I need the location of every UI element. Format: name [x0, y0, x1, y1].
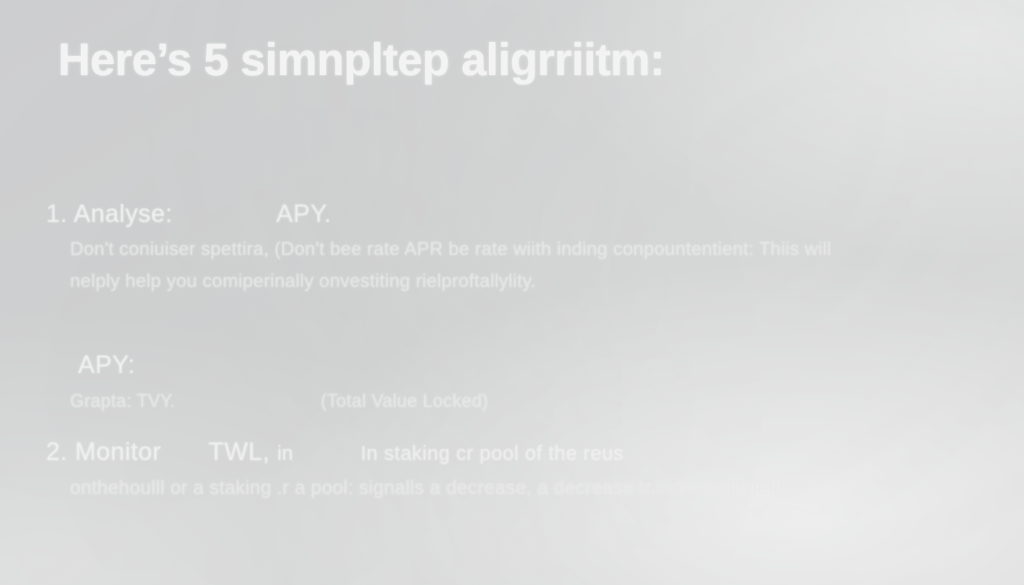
list-item-1-term: APY. — [276, 200, 331, 228]
list-item-2-heading: 2. Monitor TWL, in In staking cr pool of… — [46, 438, 624, 467]
list-item-1-body-line-2: nelply help you comiperinally onvestitin… — [70, 270, 536, 292]
list-item-2-term-suffix: in — [277, 443, 293, 465]
list-item-1-label: Analyse: — [74, 200, 173, 228]
apy-section-heading: APY: — [78, 351, 135, 380]
list-item-2-number: 2. — [46, 438, 68, 466]
apy-section-body: Grapta: TVY. (Total Value Locked) — [70, 391, 488, 412]
list-item-2-body-line-1: onthehoulll or a staking .r a pool: sign… — [70, 478, 789, 500]
list-item-2-term-tail: In staking cr pool of the reus — [361, 443, 624, 465]
page-title: Here’s 5 simnpltep aligrriitm: — [58, 34, 665, 86]
list-item-1-body-line-1: Don't coniuiser spettira, (Don't bee rat… — [70, 238, 831, 260]
list-item-1-number: 1. — [46, 200, 68, 228]
list-item-2-term: TWL, — [209, 438, 270, 466]
slide-canvas: Here’s 5 simnpltep aligrriitm: 1. Analys… — [0, 0, 1024, 585]
apy-tvl-note: (Total Value Locked) — [321, 391, 489, 411]
list-item-1-heading: 1. Analyse: APY. — [46, 200, 331, 229]
apy-graph-label: Grapta: TVY. — [70, 391, 175, 411]
list-item-2-label: Monitor — [75, 438, 161, 466]
